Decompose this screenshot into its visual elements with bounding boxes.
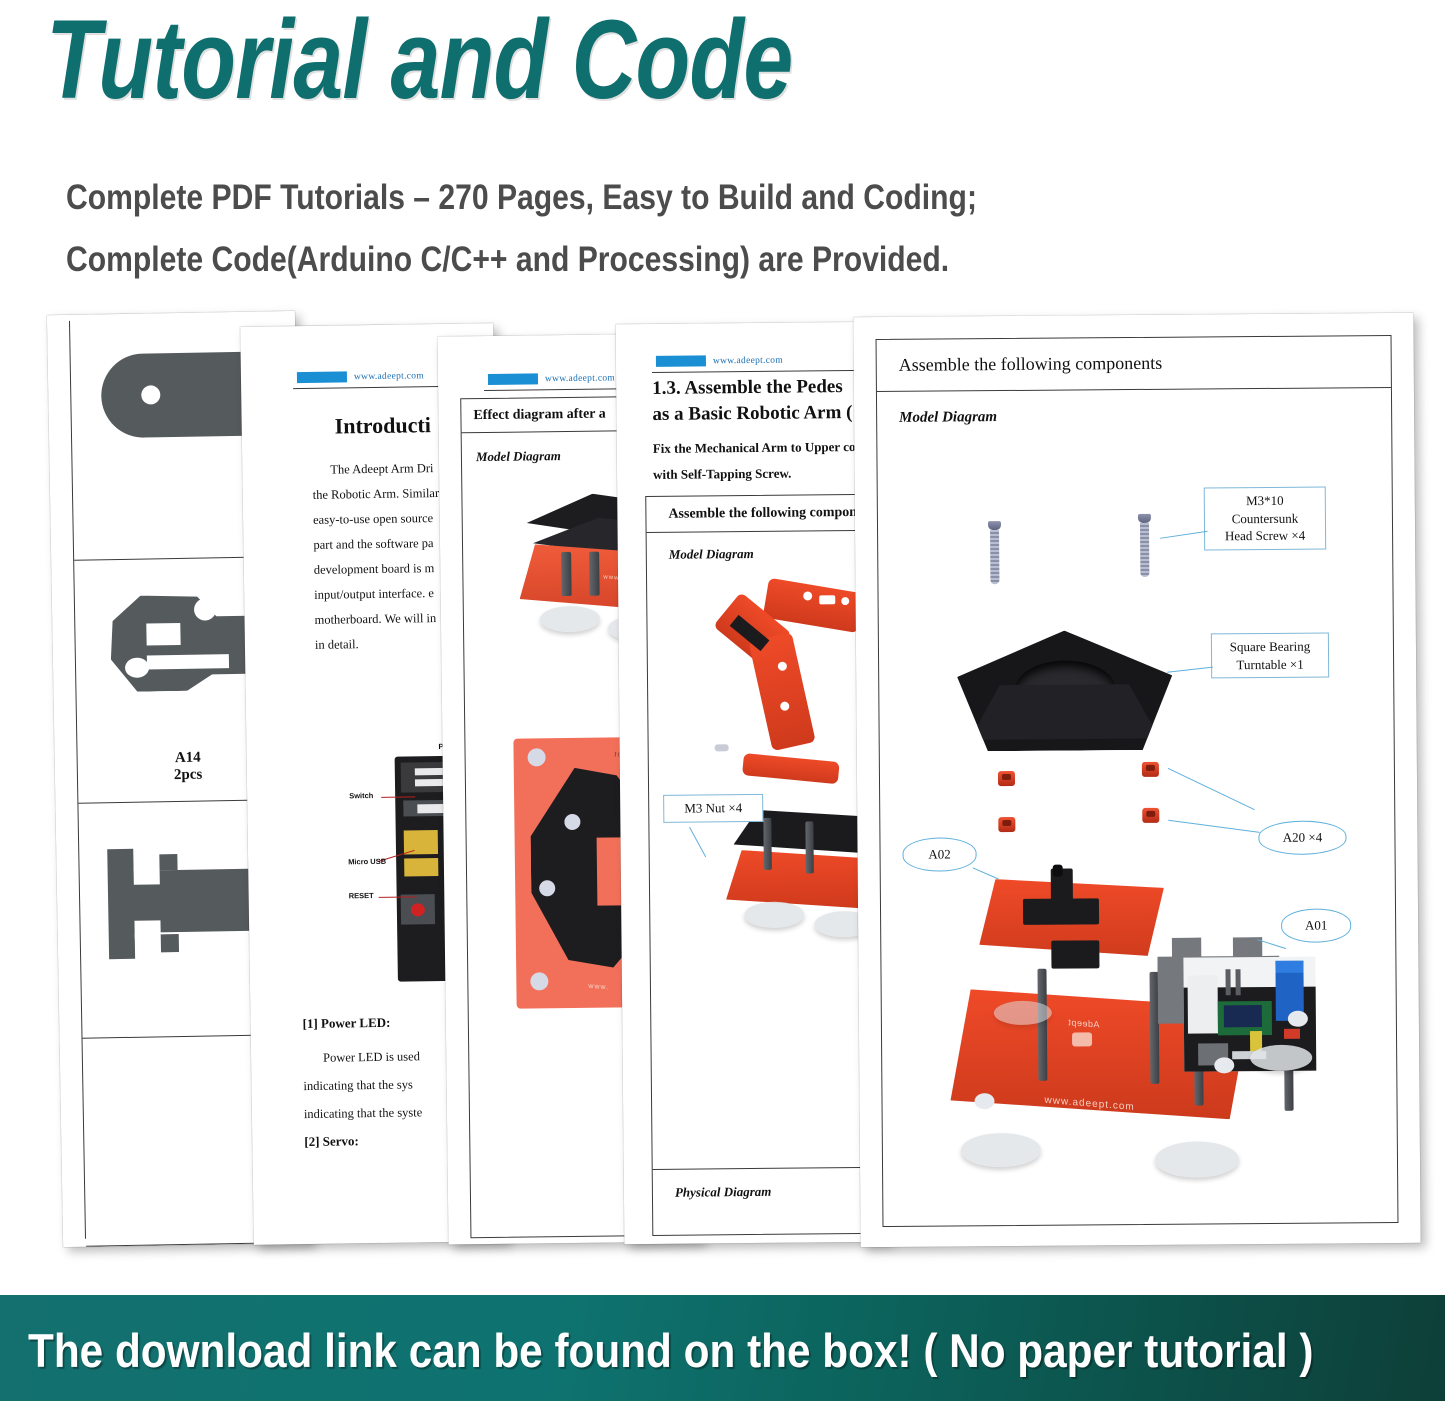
part-code: A14 xyxy=(175,749,201,765)
banner-text: The download link can be found on the bo… xyxy=(28,1323,1313,1378)
paragraph-line: motherboard. We will in xyxy=(314,606,436,633)
physical-diagram-label: Physical Diagram xyxy=(675,1184,772,1201)
figure-label-switch: Switch xyxy=(349,791,373,800)
list-item-text: indicating that the syste xyxy=(304,1100,423,1127)
list-item-power-led: [1] Power LED: xyxy=(302,1015,390,1032)
list-item-servo: [2] Servo: xyxy=(304,1133,359,1150)
a20-nut-part xyxy=(998,817,1015,832)
servo-block xyxy=(1023,898,1099,925)
section-header: Assemble the following components xyxy=(877,336,1391,392)
model-diagram-label: Model Diagram xyxy=(669,546,754,563)
part-qty: 2pcs xyxy=(174,767,203,783)
body-line-2: with Self-Tapping Screw. xyxy=(653,461,792,488)
body-line-1: Fix the Mechanical Arm to Upper cover xyxy=(653,434,874,462)
support-post xyxy=(1037,969,1047,1081)
part-label-a14: A14 2pcs xyxy=(173,749,202,785)
paragraph-line: part and the software pa xyxy=(313,531,433,558)
product-feature-image: Tutorial and Code Complete PDF Tutorials… xyxy=(0,0,1445,1401)
servo-body xyxy=(1051,940,1099,968)
callout-leader xyxy=(1160,531,1208,539)
section-title-line-1: 1.3. Assemble the Pedes xyxy=(652,376,843,400)
section-header: Assemble the following components xyxy=(646,495,888,533)
a20-nut-part xyxy=(1142,808,1159,823)
callout-m3-nut: M3 Nut ×4 xyxy=(663,794,763,823)
callout-square-bearing: Square Bearing Turntable ×1 xyxy=(1211,632,1329,678)
adeept-url-label: www.adeept.com xyxy=(713,355,783,366)
components-section-box: Assemble the following components Model … xyxy=(876,335,1399,1227)
countersunk-screw-part xyxy=(1138,514,1151,577)
adeept-header: www.adeept.com xyxy=(656,355,783,367)
header-rule xyxy=(652,370,877,374)
figure-label-reset: RESET xyxy=(349,891,374,900)
page-title: Tutorial and Code xyxy=(46,0,792,129)
callout-leader xyxy=(1167,667,1213,673)
callout-leader xyxy=(1168,820,1259,833)
model-diagram-label: Model Diagram xyxy=(899,409,997,427)
download-link-banner: The download link can be found on the bo… xyxy=(0,1295,1445,1401)
tutorial-page-assemble-pedestal: www.adeept.com 1.3. Assemble the Pedes a… xyxy=(616,322,889,1244)
adeept-url-label: www.adeept.com xyxy=(545,373,615,384)
subtitle-line-2: Complete Code(Arduino C/C++ and Processi… xyxy=(66,240,949,280)
list-item-text: indicating that the sys xyxy=(303,1072,413,1099)
subtitle-line-1: Complete PDF Tutorials – 270 Pages, Easy… xyxy=(66,178,977,218)
m3-nut-part xyxy=(715,744,729,751)
adeept-header: www.adeept.com xyxy=(297,370,424,383)
a20-nut-part xyxy=(998,771,1015,786)
a20-nut-part xyxy=(1142,762,1159,777)
paragraph-line: in detail. xyxy=(315,632,359,658)
adeept-logo-bar xyxy=(488,373,538,385)
paragraph-line: The Adeept Arm Dri xyxy=(330,456,433,483)
adeept-logo-bar xyxy=(656,355,706,366)
paragraph-line: easy-to-use open source xyxy=(313,506,433,533)
adeept-url-label: www.adeept.com xyxy=(354,371,424,382)
pedestal-assembly-render: Adeept www.adeept.com xyxy=(930,840,1393,1204)
list-item-text: Power LED is used xyxy=(323,1044,420,1070)
tutorial-page-stack: A11 1pcs A14 2pcs xyxy=(0,285,1445,1275)
callout-countersunk-screw: M3*10 Countersunk Head Screw ×4 xyxy=(1204,487,1326,551)
countersunk-screw-part xyxy=(988,521,1001,584)
suction-cup xyxy=(1155,1141,1239,1178)
paragraph-line: input/output interface. e xyxy=(314,581,434,608)
square-bearing-turntable-part xyxy=(957,630,1173,752)
section-title-line-2: as a Basic Robotic Arm ( xyxy=(652,402,852,426)
model-diagram-label: Model Diagram xyxy=(476,448,561,465)
tutorial-page-assemble-components: Assemble the following components Model … xyxy=(853,313,1420,1247)
callout-a01: A01 xyxy=(1281,908,1351,943)
components-section-box: Assemble the following components Model … xyxy=(645,494,888,1236)
suction-cup xyxy=(961,1133,1041,1168)
paragraph-line: the Robotic Arm. Similar xyxy=(313,481,440,508)
section-title: Introducti xyxy=(335,412,432,439)
callout-leader xyxy=(689,827,706,857)
adeept-logo-bar xyxy=(297,371,347,383)
callout-leader xyxy=(1168,768,1255,810)
paragraph-line: development board is m xyxy=(314,556,435,583)
adeept-header: www.adeept.com xyxy=(488,372,615,385)
figure-label-micro-usb: Micro USB xyxy=(348,857,386,867)
section-divider xyxy=(653,1167,889,1171)
adeept-gear-logo xyxy=(1072,1032,1092,1046)
